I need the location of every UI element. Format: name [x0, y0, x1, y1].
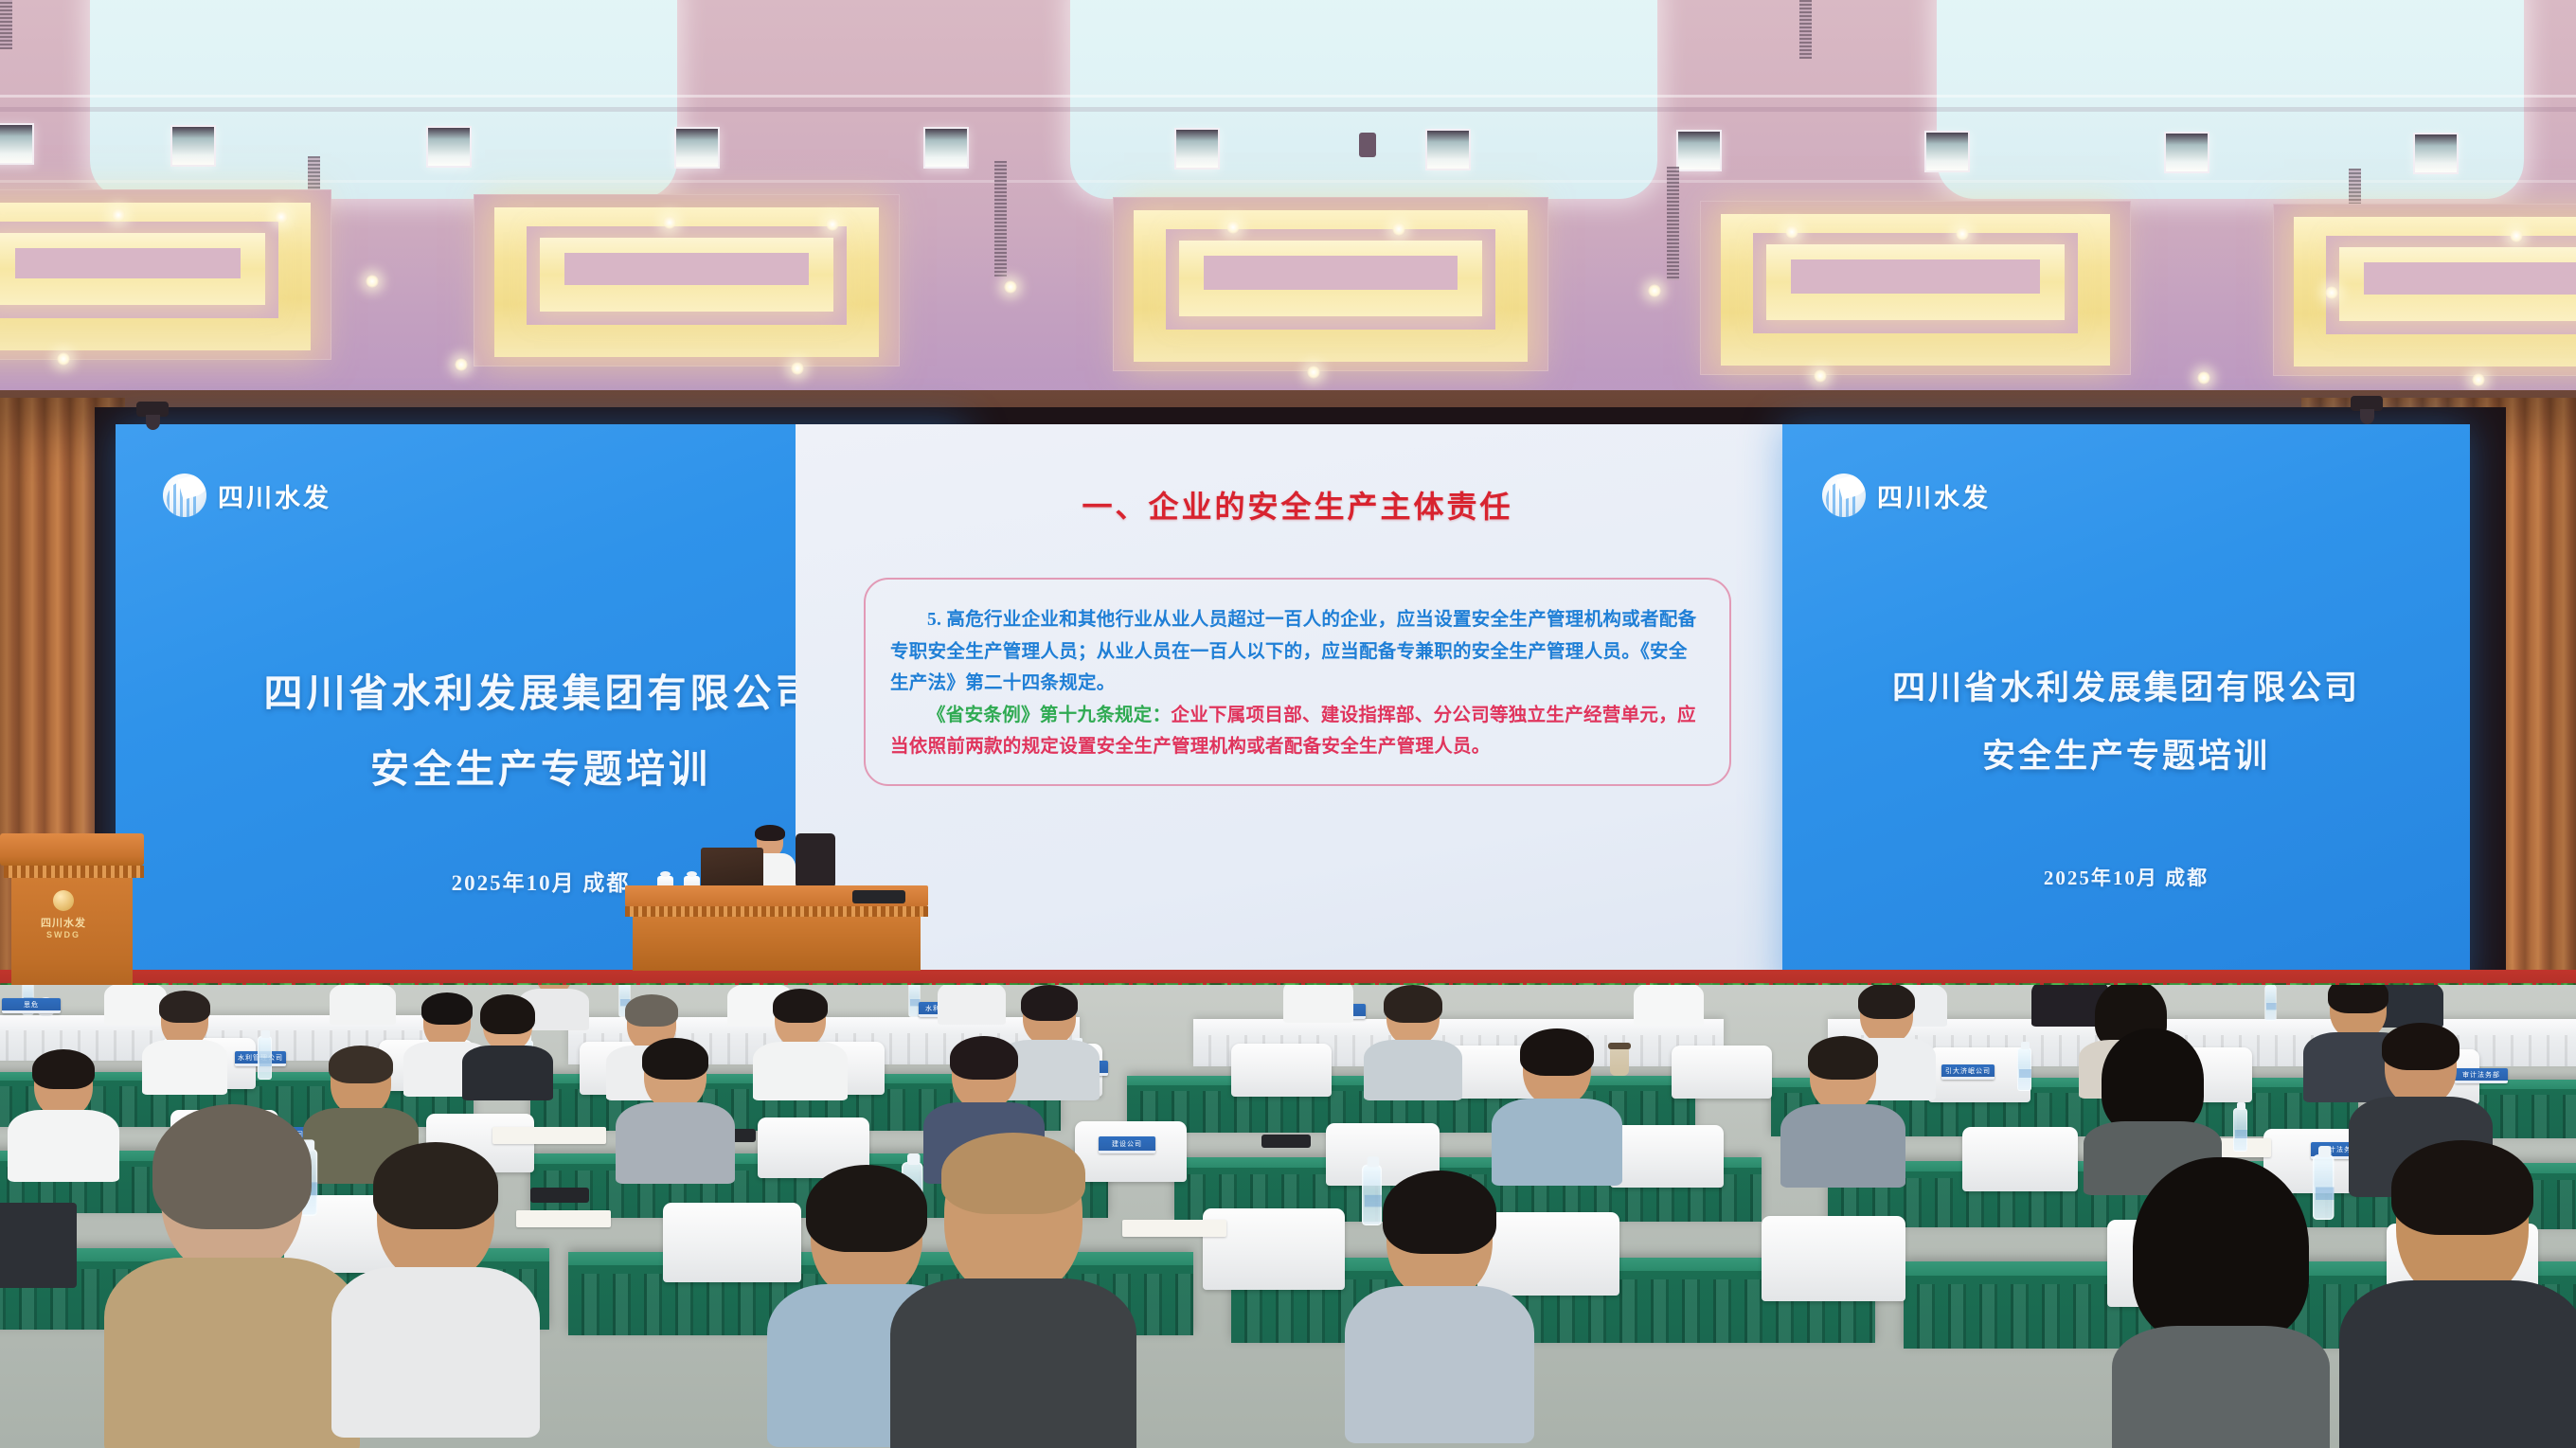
display-screen-right[interactable]: 四川水发 四川省水利发展集团有限公司 安全生产专题培训 2025年10月 成都 [1782, 424, 2470, 996]
screen-frame-gap-right [2468, 407, 2506, 1004]
hair [2133, 1157, 2309, 1343]
slide-content-box: 5. 高危行业企业和其他行业从业人员超过一百人的企业，应当设置安全生产管理机构或… [864, 578, 1731, 786]
notebook [492, 1127, 606, 1144]
hair [1384, 985, 1442, 1023]
downlight [1956, 227, 1969, 241]
recessed-light [1174, 128, 1220, 170]
attendee [2339, 1142, 2576, 1448]
torso [1364, 1040, 1462, 1100]
downlight [112, 208, 125, 222]
brand-logo-left: 四川水发 [163, 474, 331, 517]
hair [32, 1049, 95, 1089]
attendee [104, 1106, 360, 1448]
downlight [57, 352, 70, 366]
slide-paragraph-2: 《省安条例》第十九条规定：企业下属项目部、建设指挥部、分公司等独立生产经营单元，… [890, 700, 1705, 763]
chair [1962, 1127, 2078, 1191]
attendee [1634, 985, 1704, 1025]
downlight [791, 362, 804, 375]
recessed-light [1425, 129, 1471, 170]
hair [1858, 985, 1915, 1019]
attendee [1283, 985, 1353, 1023]
torso [938, 985, 1006, 1025]
hair [159, 991, 210, 1023]
ceiling-coffer-light [1113, 197, 1548, 371]
downlight [1785, 225, 1798, 239]
conference-hall-photo: 四川水发 四川省水利发展集团有限公司 安全生产专题培训 2025年10月 成都 … [0, 0, 2576, 1448]
hair [1808, 1036, 1878, 1080]
torso [753, 1042, 848, 1100]
chair [1762, 1216, 1905, 1301]
attendee [890, 1135, 1136, 1448]
recessed-light [170, 125, 216, 167]
ceiling-coffer-light [1700, 201, 2131, 375]
attendee [331, 1144, 540, 1428]
attendee [753, 991, 848, 1097]
attendee [330, 985, 396, 1023]
attendee [142, 992, 227, 1091]
ceiling-molding-3 [0, 180, 2576, 183]
torso [2339, 1280, 2576, 1448]
head-table-trim [625, 906, 928, 917]
hair [152, 1104, 312, 1229]
attendee [938, 985, 1006, 1023]
screen-right-title: 四川省水利发展集团有限公司 [1782, 661, 2470, 709]
hair [642, 1038, 708, 1080]
cove-core [2364, 262, 2576, 295]
ceiling-vent [994, 161, 1007, 277]
hair [329, 1046, 393, 1083]
recessed-light [674, 127, 720, 169]
presenter-laptop [701, 848, 763, 889]
downlight [1004, 280, 1017, 294]
ceiling-vent-top-left [0, 0, 12, 49]
skylight-panel-2 [1070, 0, 1657, 199]
hair [773, 989, 828, 1023]
ceiling-molding-1 [0, 95, 2576, 98]
presenter-chair [796, 833, 835, 888]
podium-logo-en: SWDG [21, 930, 106, 939]
cove-core [1791, 259, 2040, 294]
torso [104, 1258, 360, 1448]
attendee [616, 1040, 735, 1182]
recessed-light [0, 123, 34, 165]
recessed-light [923, 127, 969, 169]
downlight [1307, 366, 1320, 379]
ceiling-camera-left [136, 402, 169, 417]
attendee [1345, 1172, 1534, 1438]
skylight-panel-1 [90, 0, 677, 199]
downlight [455, 358, 468, 371]
downlight [1226, 221, 1240, 234]
notebook [1122, 1220, 1226, 1237]
podium-logo-icon [53, 890, 74, 911]
screen-right-date: 2025年10月 成都 [1782, 863, 2470, 891]
shoulder-bag [0, 1203, 77, 1288]
recessed-light [2164, 132, 2209, 173]
recessed-light [1924, 131, 1970, 172]
downlight [366, 275, 379, 288]
screen-right-subtitle: 安全生产专题培训 [1782, 729, 2470, 778]
water-bottle [2264, 985, 2276, 1021]
hair [373, 1142, 498, 1229]
torso [1283, 985, 1353, 1023]
slide-paragraph-1: 5. 高危行业企业和其他行业从业人员超过一百人的企业，应当设置安全生产管理机构或… [890, 604, 1705, 700]
water-drop-logo-icon [1822, 474, 1866, 517]
ceiling-coffer-light [2273, 204, 2576, 376]
attendee [1780, 1038, 1905, 1184]
podium-logo-cn: 四川水发 [21, 915, 106, 930]
hair [2328, 985, 2388, 1013]
hair [1021, 985, 1078, 1021]
water-drop-logo-icon [163, 474, 206, 517]
name-card-text: 引大济岷公司 [1941, 1064, 1995, 1077]
podium-top [0, 833, 144, 866]
downlight [1648, 284, 1661, 297]
torso [2112, 1326, 2330, 1448]
water-bottle [2017, 1047, 2031, 1091]
ceiling-vent [1667, 167, 1679, 280]
attendee [1364, 987, 1462, 1099]
ceiling [0, 0, 2576, 407]
presenter-hair [755, 825, 785, 841]
recessed-light [1676, 130, 1722, 171]
downlight [275, 210, 288, 223]
ceiling-molding-2 [0, 107, 2576, 112]
torso [890, 1278, 1136, 1448]
podium-logo: 四川水发 SWDG [21, 890, 106, 939]
ceiling-camera-right [2351, 396, 2383, 411]
torso [1634, 985, 1704, 1026]
attendee [8, 1051, 119, 1180]
torso [462, 1046, 553, 1100]
torso [1780, 1104, 1905, 1188]
hair [941, 1133, 1085, 1214]
cove-core [1204, 256, 1458, 290]
smartphone [1261, 1135, 1311, 1148]
downlight [1814, 369, 1827, 383]
hair [625, 994, 678, 1027]
chair [1672, 1046, 1772, 1099]
ceiling-vent-top-right [1799, 0, 1812, 59]
hair [1383, 1171, 1496, 1254]
brand-name-left: 四川水发 [218, 477, 331, 514]
podium-trim [4, 866, 144, 878]
torso [8, 1110, 119, 1182]
downlight [826, 218, 839, 231]
torso [330, 985, 396, 1025]
downlight [1392, 223, 1405, 236]
attendee [462, 996, 553, 1097]
attendee [2112, 1159, 2330, 1448]
head-table-body [633, 917, 921, 971]
recessed-light [426, 126, 472, 168]
chair [1231, 1044, 1332, 1097]
hair [2391, 1140, 2533, 1235]
hair [480, 994, 535, 1034]
chair [1610, 1125, 1724, 1188]
torso [1345, 1286, 1534, 1443]
water-bottle [2233, 1108, 2247, 1152]
torso [616, 1102, 735, 1184]
downlight [2197, 371, 2210, 384]
slide-heading: 一、企业的安全生产主体责任 [796, 483, 1799, 527]
hair [950, 1036, 1018, 1080]
torso [331, 1267, 540, 1438]
torso [142, 1040, 227, 1095]
downlight [2510, 229, 2523, 242]
delegation-name-card: 思危 [2, 998, 61, 1013]
attendee [1492, 1030, 1622, 1184]
audience-area: 思危 水利管理公司 建设公司 工程建设公司 水环境公司 [0, 985, 2576, 1448]
slide-paragraph-2-lead: 《省安条例》第十九条规定： [927, 706, 1171, 725]
downlight [2325, 286, 2338, 299]
downlight [2472, 373, 2485, 386]
hair [1520, 1028, 1594, 1076]
water-bottle [258, 1036, 272, 1080]
brand-logo-right: 四川水发 [1822, 474, 1991, 517]
brand-name-right: 四川水发 [1877, 477, 1991, 514]
cove-core [15, 248, 241, 278]
cove-core [564, 253, 809, 285]
name-card-text: 思危 [2, 998, 61, 1010]
av-control-box [852, 890, 905, 903]
ceiling-speaker [1359, 133, 1376, 157]
projection-slide-center[interactable]: 一、企业的安全生产主体责任 5. 高危行业企业和其他行业从业人员超过一百人的企业… [796, 424, 1799, 996]
recessed-light [2413, 133, 2459, 174]
downlight [663, 216, 676, 229]
hair [2102, 1028, 2204, 1135]
delegation-name-card: 引大济岷公司 [1941, 1064, 1995, 1080]
hair [2382, 1023, 2460, 1070]
